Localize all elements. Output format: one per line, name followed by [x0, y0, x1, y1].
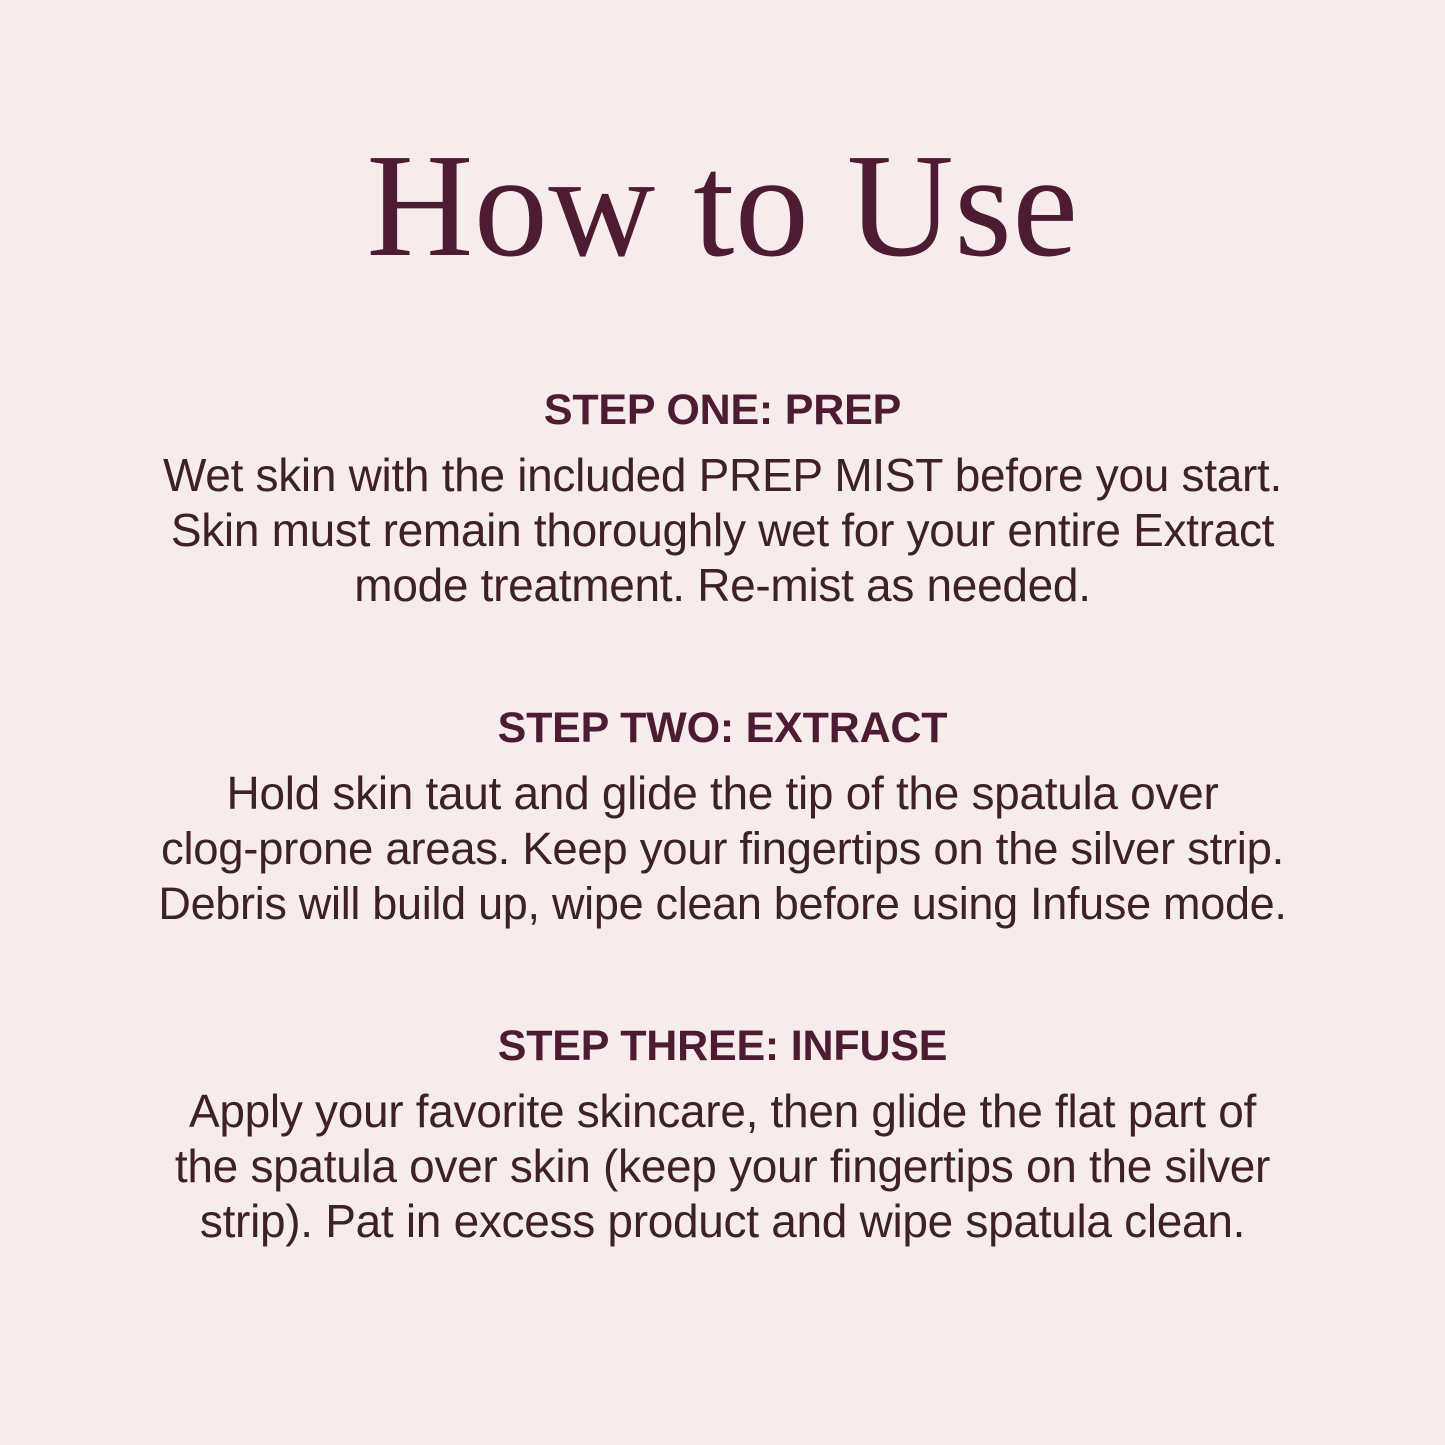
step-item-two: STEP TWO: EXTRACT Hold skin taut and gli…	[143, 704, 1303, 931]
step-item-one: STEP ONE: PREP Wet skin with the include…	[143, 386, 1303, 613]
how-to-use-panel: How to Use STEP ONE: PREP Wet skin with …	[0, 0, 1445, 1445]
page-title: How to Use	[0, 132, 1445, 280]
step-two-body: Hold skin taut and glide the tip of the …	[158, 766, 1288, 931]
step-two-body-line: Debris will build up, wipe clean before …	[158, 876, 1288, 931]
step-one-heading: STEP ONE: PREP	[143, 386, 1303, 434]
step-two-body-line: clog-prone areas. Keep your fingertips o…	[158, 821, 1288, 876]
step-one-body-line: mode treatment. Re-mist as needed.	[158, 558, 1288, 613]
step-three-body-line: strip). Pat in excess product and wipe s…	[158, 1194, 1288, 1249]
step-three-body-line: the spatula over skin (keep your fingert…	[158, 1139, 1288, 1194]
step-one-body: Wet skin with the included PREP MIST bef…	[158, 448, 1288, 613]
step-two-body-line: Hold skin taut and glide the tip of the …	[158, 766, 1288, 821]
step-one-body-line: Skin must remain thoroughly wet for your…	[158, 503, 1288, 558]
step-three-heading: STEP THREE: INFUSE	[143, 1022, 1303, 1070]
step-two-heading: STEP TWO: EXTRACT	[143, 704, 1303, 752]
step-one-body-line: Wet skin with the included PREP MIST bef…	[158, 448, 1288, 503]
title-block: How to Use	[0, 132, 1445, 280]
steps-list: STEP ONE: PREP Wet skin with the include…	[143, 386, 1303, 1249]
step-three-body-line: Apply your favorite skincare, then glide…	[158, 1084, 1288, 1139]
step-three-body: Apply your favorite skincare, then glide…	[158, 1084, 1288, 1249]
step-item-three: STEP THREE: INFUSE Apply your favorite s…	[143, 1022, 1303, 1249]
